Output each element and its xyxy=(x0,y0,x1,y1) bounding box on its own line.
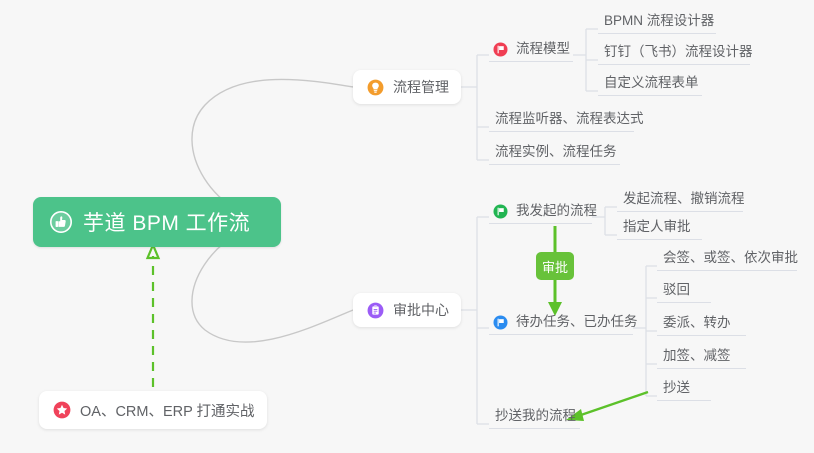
flag-icon-green xyxy=(493,204,508,219)
leaf-countersign-label: 会签、或签、依次审批 xyxy=(663,250,798,266)
leaf-custom-form-label: 自定义流程表单 xyxy=(604,75,699,91)
node-approval-center[interactable]: 审批中心 xyxy=(353,293,461,327)
leaf-reject[interactable]: 驳回 xyxy=(657,283,711,303)
leaf-dingtalk-feishu-designer[interactable]: 钉钉（飞书）流程设计器 xyxy=(598,45,750,65)
leaf-process-model[interactable]: 流程模型 xyxy=(489,40,573,62)
flag-icon-blue xyxy=(493,315,508,330)
leaf-assignee-approval-label: 指定人审批 xyxy=(623,219,691,235)
clipboard-icon xyxy=(367,302,384,319)
node-integration-practice[interactable]: OA、CRM、ERP 打通实战 xyxy=(39,391,267,429)
leaf-todo-done-tasks-label: 待办任务、已办任务 xyxy=(516,314,638,330)
lightbulb-icon xyxy=(367,79,384,96)
leaf-custom-form[interactable]: 自定义流程表单 xyxy=(598,76,702,96)
leaf-process-listener[interactable]: 流程监听器、流程表达式 xyxy=(489,112,634,132)
leaf-cc-my-process[interactable]: 抄送我的流程 xyxy=(489,409,580,429)
root-node[interactable]: 芋道 BPM 工作流 xyxy=(33,197,281,247)
leaf-countersign[interactable]: 会签、或签、依次审批 xyxy=(657,251,797,271)
leaf-process-model-label: 流程模型 xyxy=(516,41,570,57)
node-approval-center-label: 审批中心 xyxy=(393,300,449,320)
leaf-process-listener-label: 流程监听器、流程表达式 xyxy=(495,111,644,127)
leaf-dingtalk-feishu-designer-label: 钉钉（飞书）流程设计器 xyxy=(604,44,753,60)
leaf-reject-label: 驳回 xyxy=(663,282,690,298)
approval-tag-label: 审批 xyxy=(542,257,568,276)
approval-tag[interactable]: 审批 xyxy=(536,252,574,280)
leaf-add-remove-sign-label: 加签、减签 xyxy=(663,348,731,364)
leaf-my-initiated-process[interactable]: 我发起的流程 xyxy=(489,202,592,224)
mindmap-canvas: 芋道 BPM 工作流 流程管理 审批中心 xyxy=(0,0,814,453)
leaf-cc-my-process-label: 抄送我的流程 xyxy=(495,408,576,424)
leaf-my-initiated-process-label: 我发起的流程 xyxy=(516,203,597,219)
leaf-cc[interactable]: 抄送 xyxy=(657,381,711,401)
root-label: 芋道 BPM 工作流 xyxy=(83,207,250,237)
node-process-management[interactable]: 流程管理 xyxy=(353,70,461,104)
leaf-todo-done-tasks[interactable]: 待办任务、已办任务 xyxy=(489,313,633,335)
leaf-assignee-approval[interactable]: 指定人审批 xyxy=(617,220,702,240)
leaf-start-cancel-process-label: 发起流程、撤销流程 xyxy=(623,191,745,207)
node-integration-practice-label: OA、CRM、ERP 打通实战 xyxy=(80,400,255,421)
thumbs-up-icon xyxy=(49,210,73,234)
leaf-bpmn-designer[interactable]: BPMN 流程设计器 xyxy=(598,14,716,34)
leaf-process-instance-label: 流程实例、流程任务 xyxy=(495,144,617,160)
leaf-cc-label: 抄送 xyxy=(663,380,690,396)
leaf-bpmn-designer-label: BPMN 流程设计器 xyxy=(604,13,714,29)
leaf-add-remove-sign[interactable]: 加签、减签 xyxy=(657,349,746,369)
leaf-delegate-transfer-label: 委派、转办 xyxy=(663,315,731,331)
arrow-integration-to-root xyxy=(148,245,159,387)
star-icon xyxy=(53,401,71,419)
flag-icon-red xyxy=(493,42,508,57)
leaf-process-instance[interactable]: 流程实例、流程任务 xyxy=(489,145,620,165)
leaf-start-cancel-process[interactable]: 发起流程、撤销流程 xyxy=(617,192,743,212)
node-process-management-label: 流程管理 xyxy=(393,77,449,97)
leaf-delegate-transfer[interactable]: 委派、转办 xyxy=(657,316,746,336)
